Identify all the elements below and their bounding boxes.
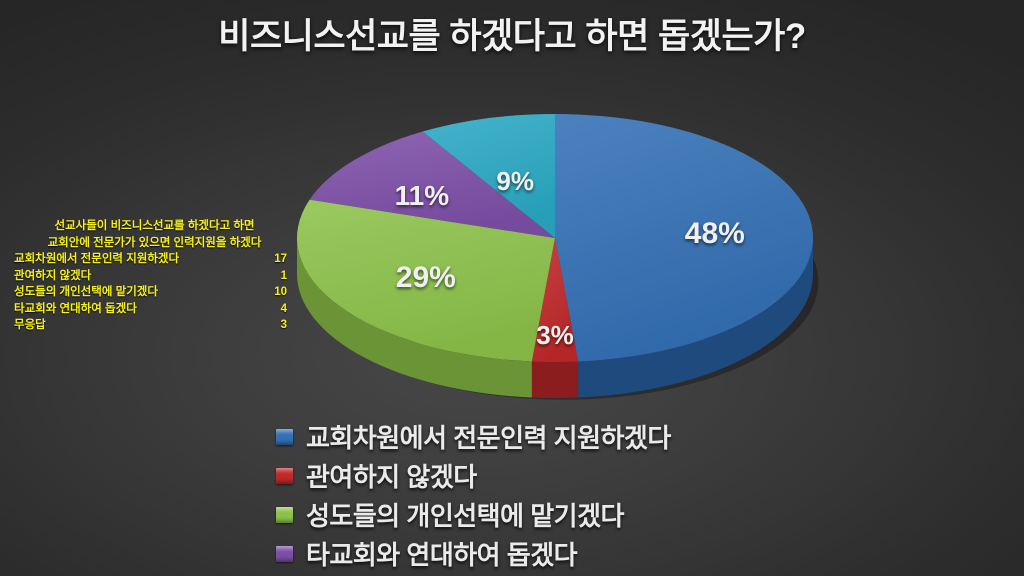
table-row-label: 성도들의 개인선택에 맡기겠다 <box>14 284 158 301</box>
page-title: 비즈니스선교를 하겠다고 하면 돕겠는가? <box>0 8 1024 59</box>
data-table-heading-line-1: 선교사들이 비즈니스선교를 하겠다고 하면 <box>8 218 293 235</box>
legend-swatch-icon <box>276 429 293 445</box>
pie-slice-percent-label: 3% <box>536 320 574 350</box>
legend-swatch-icon <box>276 468 293 484</box>
table-row-value: 3 <box>281 317 293 334</box>
table-row: 성도들의 개인선택에 맡기겠다 10 <box>8 284 293 301</box>
legend-item-3[interactable]: 타교회와 연대하여 돕겠다 <box>276 534 1016 573</box>
table-row-value: 17 <box>274 251 293 268</box>
table-row-label: 관여하지 않겠다 <box>14 268 91 285</box>
chart-legend: 교회차원에서 전문인력 지원하겠다 관여하지 않겠다 성도들의 개인선택에 맡기… <box>276 417 1016 573</box>
legend-swatch-icon <box>276 546 293 562</box>
pie-chart-svg: 48%3%29%11%9% <box>295 110 815 406</box>
table-row-label: 타교회와 연대하여 돕겠다 <box>14 301 137 318</box>
table-row-value: 4 <box>281 301 293 318</box>
table-row-value: 10 <box>274 284 293 301</box>
table-row-value: 1 <box>281 268 293 285</box>
legend-item-label: 성도들의 개인선택에 맡기겠다 <box>306 496 624 533</box>
data-table-heading-line-2: 교회안에 전문가가 있으면 인력지원을 하겠다 <box>8 235 293 252</box>
pie-slice-percent-label: 11% <box>395 180 450 211</box>
legend-swatch-icon <box>276 507 293 523</box>
table-row: 타교회와 연대하여 돕겠다 4 <box>8 301 293 318</box>
table-row: 무응답 3 <box>8 317 293 334</box>
legend-item-2[interactable]: 성도들의 개인선택에 맡기겠다 <box>276 495 1016 534</box>
legend-item-0[interactable]: 교회차원에서 전문인력 지원하겠다 <box>276 417 1016 456</box>
pie-slice-percent-label: 48% <box>685 217 745 250</box>
pie-slice-percent-label: 29% <box>396 261 456 294</box>
slide-canvas: 비즈니스선교를 하겠다고 하면 돕겠는가? 선교사들이 비즈니스선교를 하겠다고… <box>0 0 1024 576</box>
table-row: 교회차원에서 전문인력 지원하겠다 17 <box>8 251 293 268</box>
legend-item-1[interactable]: 관여하지 않겠다 <box>276 456 1016 495</box>
table-row-label: 교회차원에서 전문인력 지원하겠다 <box>14 251 179 268</box>
pie-slice-percent-label: 9% <box>496 166 534 196</box>
table-row-label: 무응답 <box>14 317 46 334</box>
table-row: 관여하지 않겠다 1 <box>8 268 293 285</box>
legend-item-label: 타교회와 연대하여 돕겠다 <box>306 535 577 572</box>
data-table: 선교사들이 비즈니스선교를 하겠다고 하면 교회안에 전문가가 있으면 인력지원… <box>8 218 293 334</box>
pie-chart: 48%3%29%11%9% <box>295 110 815 406</box>
legend-item-label: 교회차원에서 전문인력 지원하겠다 <box>306 418 671 455</box>
legend-item-label: 관여하지 않겠다 <box>306 457 477 494</box>
